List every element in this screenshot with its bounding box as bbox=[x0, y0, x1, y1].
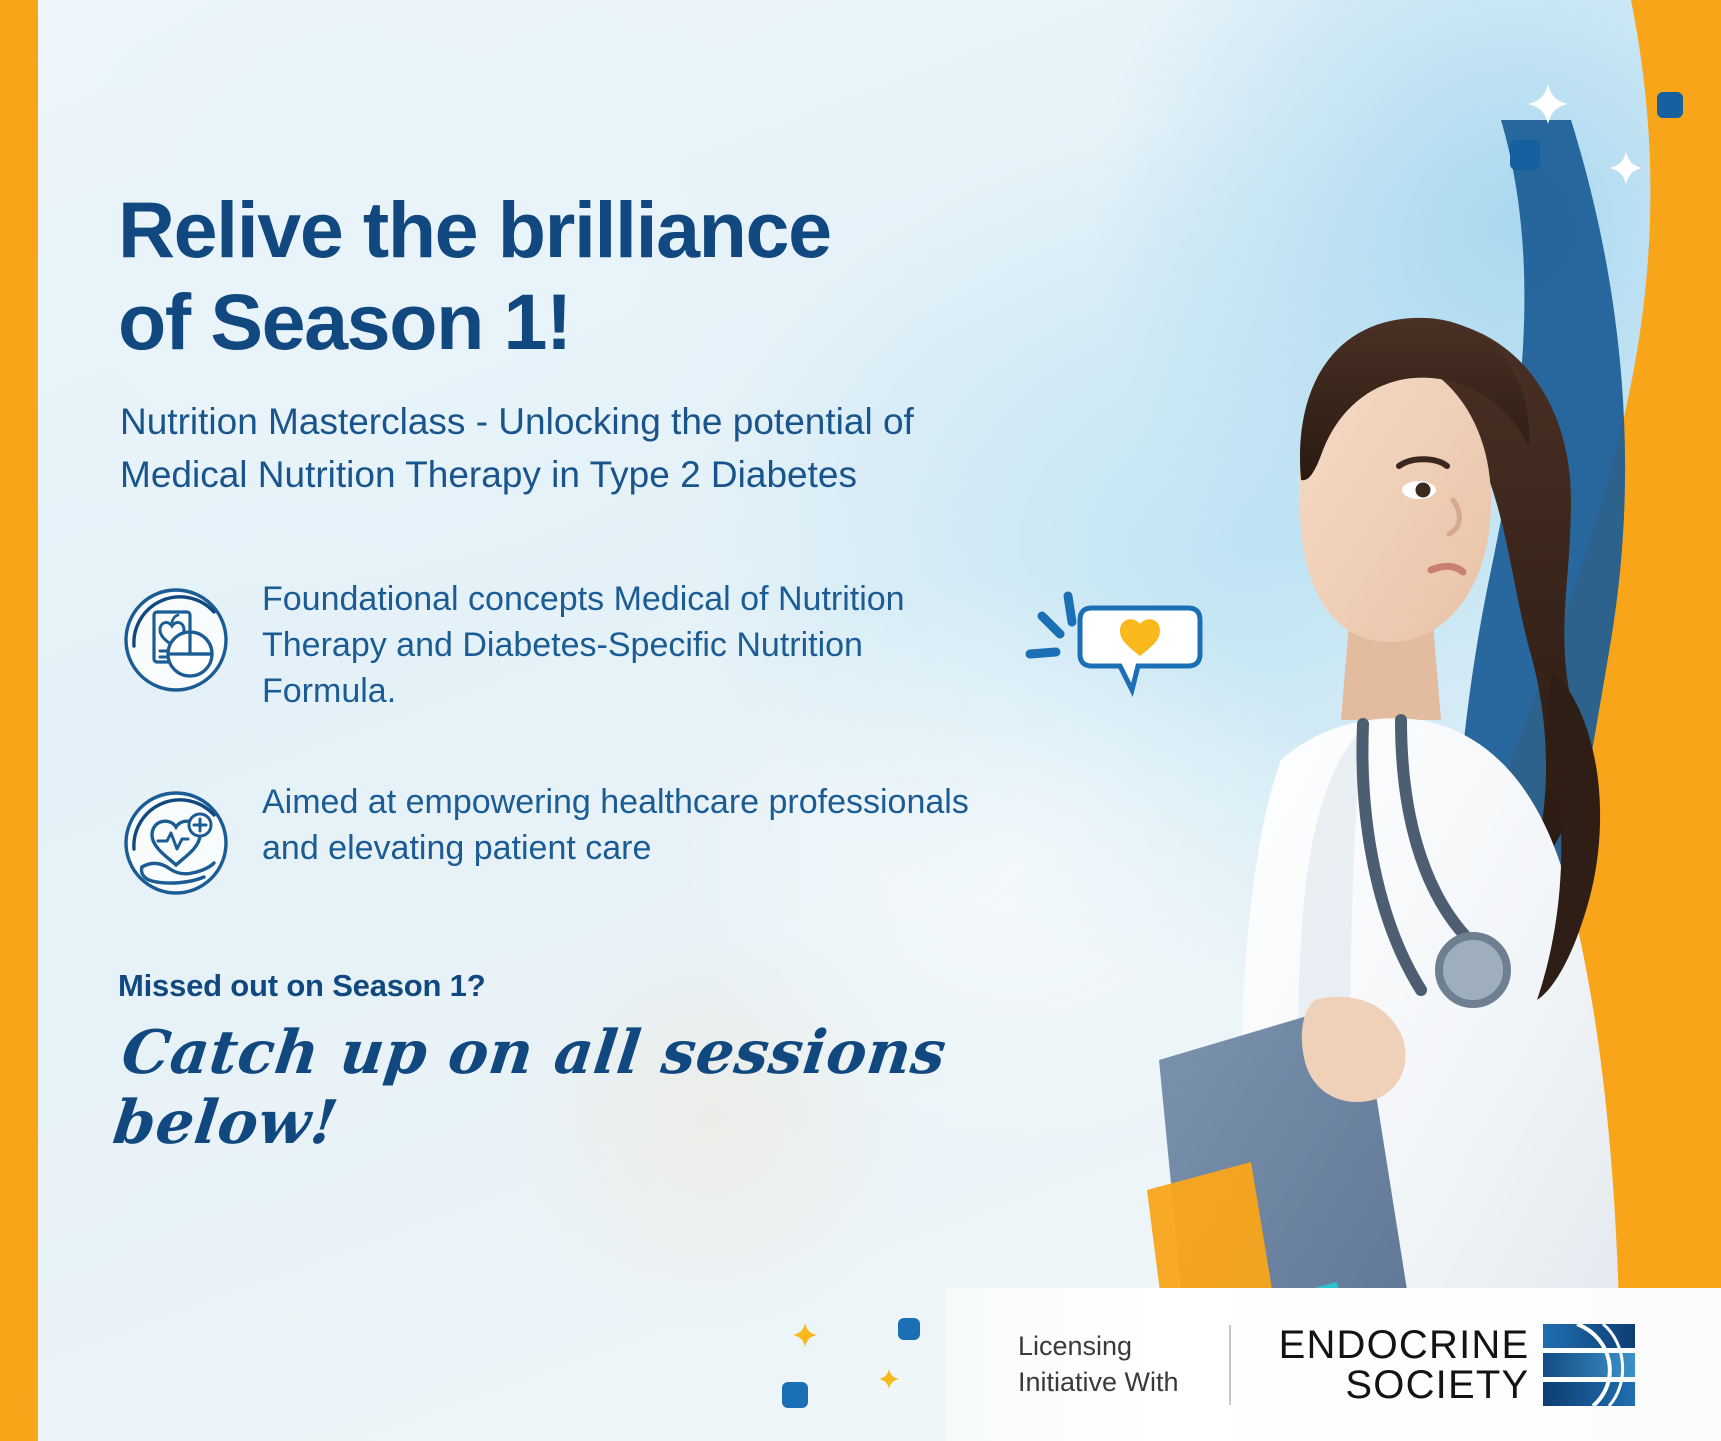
list-item: Aimed at empowering healthcare professio… bbox=[118, 771, 1018, 901]
list-item: Foundational concepts Medical of Nutriti… bbox=[118, 568, 1018, 715]
subtitle-line-1: Nutrition Masterclass - Unlocking the po… bbox=[120, 396, 1020, 449]
endocrine-society-wordmark: ENDOCRINE SOCIETY bbox=[1279, 1325, 1530, 1405]
rounded-square-decor bbox=[1657, 92, 1683, 118]
doctor-portrait-photo bbox=[1101, 200, 1661, 1441]
page-title: Relive the brilliance of Season 1! bbox=[118, 184, 1058, 367]
partner-logo-strip: Licensing Initiative With ENDOCRINE SOCI… bbox=[945, 1288, 1721, 1441]
four-point-star-icon bbox=[1526, 82, 1570, 126]
logo-divider bbox=[1229, 1325, 1231, 1405]
logo-line-2: SOCIETY bbox=[1279, 1365, 1530, 1405]
four-point-star-icon bbox=[1608, 150, 1644, 186]
logo-line-1: ENDOCRINE bbox=[1279, 1325, 1530, 1365]
nutrition-report-chart-icon bbox=[118, 582, 234, 698]
subtitle-line-2: Medical Nutrition Therapy in Type 2 Diab… bbox=[120, 449, 1020, 502]
hand-holding-heart-care-icon bbox=[118, 785, 234, 901]
licensing-label: Licensing Initiative With bbox=[1018, 1329, 1179, 1401]
headline-line-1: Relive the brilliance bbox=[118, 184, 1058, 276]
list-item-label: Aimed at empowering healthcare professio… bbox=[262, 771, 992, 871]
cta-question: Missed out on Season 1? bbox=[118, 968, 485, 1004]
feature-list: Foundational concepts Medical of Nutriti… bbox=[118, 568, 1018, 901]
endocrine-society-globe-bars-mark bbox=[1543, 1322, 1635, 1408]
content-column: Relive the brilliance of Season 1! Nutri… bbox=[118, 0, 1048, 1441]
rounded-square-decor bbox=[1510, 140, 1540, 170]
headline-line-2: of Season 1! bbox=[118, 276, 1058, 368]
subtitle: Nutrition Masterclass - Unlocking the po… bbox=[120, 396, 1020, 501]
endocrine-society-logo: ENDOCRINE SOCIETY bbox=[1279, 1322, 1636, 1408]
promo-banner: Relive the brilliance of Season 1! Nutri… bbox=[0, 0, 1721, 1441]
cta-script-text: Catch up on all sessions below! bbox=[109, 1018, 1056, 1158]
list-item-label: Foundational concepts Medical of Nutriti… bbox=[262, 568, 992, 715]
